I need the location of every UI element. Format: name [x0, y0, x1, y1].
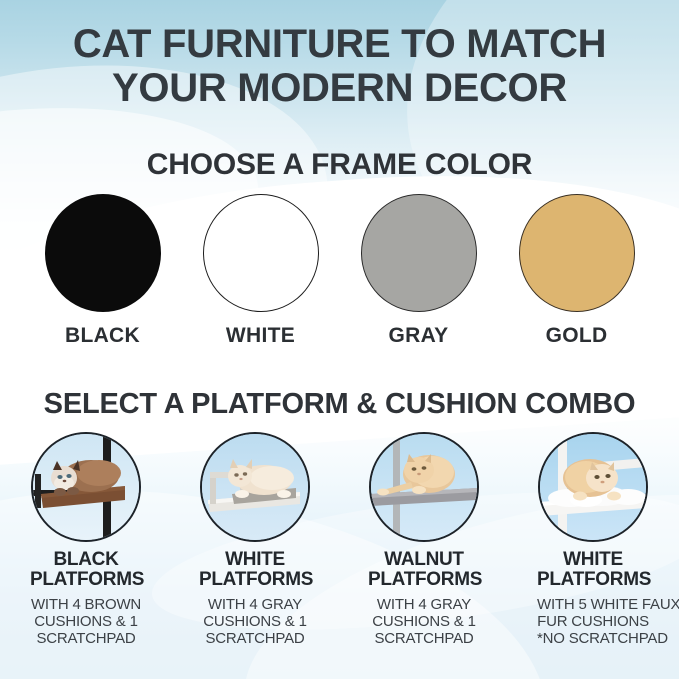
platform-combo-subtitle-3: WITH 4 GRAY CUSHIONS & 1 SCRATCHPAD — [368, 596, 480, 647]
cream-cat-on-white-platform-photo[interactable] — [200, 432, 310, 542]
platform-combo-option-1[interactable]: BLACK PLATFORMS WITH 4 BROWN CUSHIONS & … — [30, 432, 142, 647]
platform-combo-subtitle-4: WITH 5 WHITE FAUX FUR CUSHIONS *NO SCRAT… — [537, 596, 649, 647]
platform-combo-subtitle-3-line-1: WITH 4 GRAY — [368, 596, 480, 613]
platform-combo-title-1-line-2: PLATFORMS — [30, 570, 142, 590]
platform-combo-subtitle-2-line-2: CUSHIONS & 1 — [199, 613, 311, 630]
platform-combo-subtitle-4-line-1: WITH 5 WHITE FAUX — [537, 596, 649, 613]
platform-combo-title-4-line-1: WHITE — [537, 550, 649, 570]
infographic-page: CAT FURNITURE TO MATCH YOUR MODERN DECOR… — [0, 0, 679, 679]
color-swatch-label-gray: GRAY — [350, 324, 488, 348]
platform-combo-section-heading: SELECT A PLATFORM & CUSHION COMBO — [0, 388, 679, 421]
platform-combo-subtitle-2-line-3: SCRATCHPAD — [199, 630, 311, 647]
frame-color-option-gray[interactable]: GRAY — [350, 194, 488, 348]
platform-combo-subtitle-1: WITH 4 BROWN CUSHIONS & 1 SCRATCHPAD — [30, 596, 142, 647]
page-title-line-2: YOUR MODERN DECOR — [0, 66, 679, 110]
page-title-line-1: CAT FURNITURE TO MATCH — [0, 22, 679, 66]
platform-combo-row: BLACK PLATFORMS WITH 4 BROWN CUSHIONS & … — [0, 432, 679, 647]
platform-combo-title-1-line-1: BLACK — [30, 550, 142, 570]
color-swatch-black[interactable] — [45, 194, 161, 312]
platform-combo-subtitle-1-line-1: WITH 4 BROWN — [30, 596, 142, 613]
color-swatch-label-black: BLACK — [34, 324, 172, 348]
platform-combo-title-4: WHITE PLATFORMS — [537, 550, 649, 590]
platform-combo-subtitle-2-line-1: WITH 4 GRAY — [199, 596, 311, 613]
platform-combo-title-1: BLACK PLATFORMS — [30, 550, 142, 590]
color-swatch-white[interactable] — [203, 194, 319, 312]
platform-combo-title-2: WHITE PLATFORMS — [199, 550, 311, 590]
frame-color-option-white[interactable]: WHITE — [192, 194, 330, 348]
platform-combo-subtitle-2: WITH 4 GRAY CUSHIONS & 1 SCRATCHPAD — [199, 596, 311, 647]
platform-combo-option-4[interactable]: WHITE PLATFORMS WITH 5 WHITE FAUX FUR CU… — [537, 432, 649, 647]
platform-combo-subtitle-4-line-3: *NO SCRATCHPAD — [537, 630, 649, 647]
platform-combo-subtitle-4-line-2: FUR CUSHIONS — [537, 613, 649, 630]
platform-combo-title-2-line-2: PLATFORMS — [199, 570, 311, 590]
frame-color-option-black[interactable]: BLACK — [34, 194, 172, 348]
color-swatch-gray[interactable] — [361, 194, 477, 312]
platform-combo-subtitle-3-line-3: SCRATCHPAD — [368, 630, 480, 647]
color-swatch-label-white: WHITE — [192, 324, 330, 348]
content-layer: CAT FURNITURE TO MATCH YOUR MODERN DECOR… — [0, 0, 679, 679]
platform-combo-title-2-line-1: WHITE — [199, 550, 311, 570]
orange-cat-on-walnut-platform-photo[interactable] — [369, 432, 479, 542]
platform-combo-title-3: WALNUT PLATFORMS — [368, 550, 480, 590]
platform-combo-subtitle-1-line-2: CUSHIONS & 1 — [30, 613, 142, 630]
orange-cat-on-white-faux-fur-photo[interactable] — [538, 432, 648, 542]
color-swatch-gold[interactable] — [519, 194, 635, 312]
platform-combo-title-4-line-2: PLATFORMS — [537, 570, 649, 590]
platform-combo-option-2[interactable]: WHITE PLATFORMS WITH 4 GRAY CUSHIONS & 1… — [199, 432, 311, 647]
color-swatch-label-gold: GOLD — [508, 324, 646, 348]
platform-combo-title-3-line-2: PLATFORMS — [368, 570, 480, 590]
platform-combo-title-3-line-1: WALNUT — [368, 550, 480, 570]
platform-combo-option-3[interactable]: WALNUT PLATFORMS WITH 4 GRAY CUSHIONS & … — [368, 432, 480, 647]
platform-combo-subtitle-1-line-3: SCRATCHPAD — [30, 630, 142, 647]
frame-color-section-heading: CHOOSE A FRAME COLOR — [0, 148, 679, 182]
platform-combo-subtitle-3-line-2: CUSHIONS & 1 — [368, 613, 480, 630]
page-title: CAT FURNITURE TO MATCH YOUR MODERN DECOR — [0, 22, 679, 110]
frame-color-swatch-row: BLACK WHITE GRAY GOLD — [0, 194, 679, 348]
siamese-cat-on-black-platform-photo[interactable] — [31, 432, 141, 542]
frame-color-option-gold[interactable]: GOLD — [508, 194, 646, 348]
